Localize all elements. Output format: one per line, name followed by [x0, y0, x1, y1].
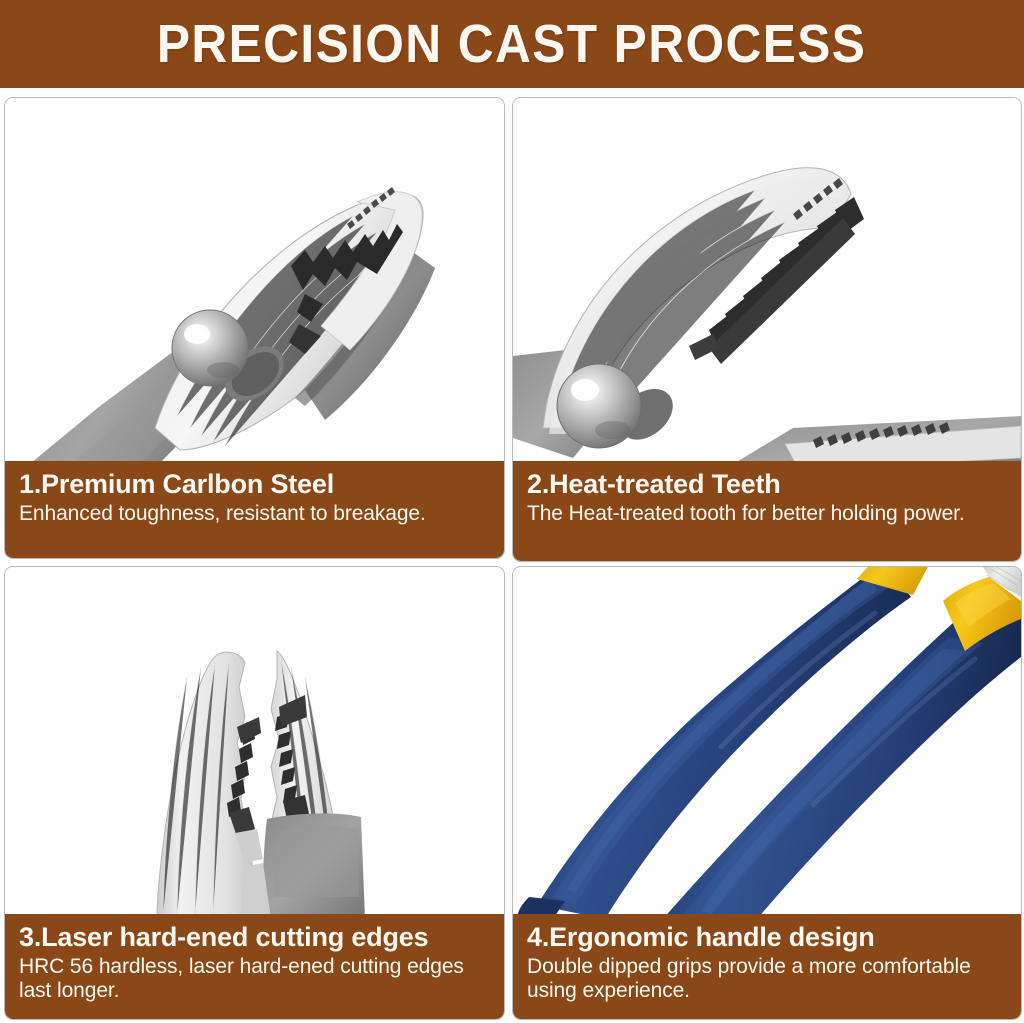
- blue-dipped-handles-closeup-icon: [513, 567, 1021, 919]
- panel-3-title: 3.Laser hard-ened cutting edges: [19, 923, 490, 952]
- pliers-jaws-front-view-icon: [5, 567, 504, 919]
- feature-panel-2: 2.Heat-treated Teeth The Heat-treated to…: [512, 97, 1022, 562]
- feature-panel-1: 1.Premium Carlbon Steel Enhanced toughne…: [4, 97, 505, 559]
- feature-panel-4: 4.Ergonomic handle design Double dipped …: [512, 566, 1022, 1020]
- panel-3-caption: 3.Laser hard-ened cutting edges HRC 56 h…: [5, 914, 504, 1019]
- panel-4-title: 4.Ergonomic handle design: [527, 923, 1007, 952]
- panel-2-title: 2.Heat-treated Teeth: [527, 470, 1007, 499]
- panel-4-subtitle: Double dipped grips provide a more comfo…: [527, 955, 1007, 1003]
- feature-panel-3: 3.Laser hard-ened cutting edges HRC 56 h…: [4, 566, 505, 1020]
- panel-1-title: 1.Premium Carlbon Steel: [19, 470, 490, 499]
- infographic-page: PRECISION CAST PROCESS: [0, 0, 1024, 1023]
- panel-3-subtitle: HRC 56 hardless, laser hard-ened cutting…: [19, 955, 490, 1003]
- page-title: PRECISION CAST PROCESS: [157, 13, 866, 75]
- panel-2-caption: 2.Heat-treated Teeth The Heat-treated to…: [513, 461, 1021, 561]
- panel-1-subtitle: Enhanced toughness, resistant to breakag…: [19, 502, 490, 526]
- serrated-jaw-teeth-closeup-icon: [513, 98, 1021, 470]
- panel-1-caption: 1.Premium Carlbon Steel Enhanced toughne…: [5, 461, 504, 558]
- panel-4-caption: 4.Ergonomic handle design Double dipped …: [513, 914, 1021, 1019]
- slip-joint-pliers-head-closeup-icon: [5, 98, 504, 468]
- panel-2-subtitle: The Heat-treated tooth for better holdin…: [527, 502, 1007, 526]
- header-banner: PRECISION CAST PROCESS: [0, 0, 1024, 88]
